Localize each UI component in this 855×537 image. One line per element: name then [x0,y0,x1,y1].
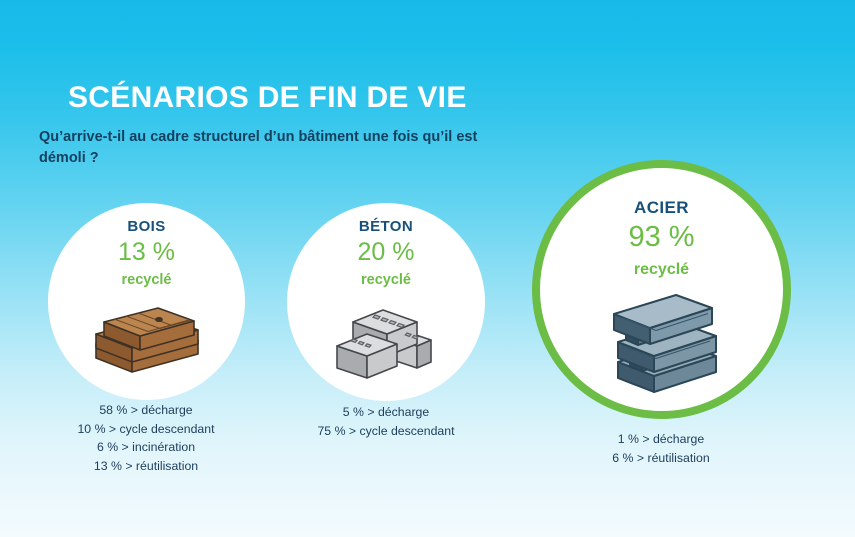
fate-item: 6 % > réutilisation [561,449,761,468]
page-subtitle: Qu’arrive-t-il au cadre structurel d’un … [39,127,509,168]
material-name-bois: BOIS [48,218,245,235]
fate-item: 13 % > réutilisation [46,457,246,476]
page-title: SCÉNARIOS DE FIN DE VIE [68,82,538,114]
recycled-label-bois: recyclé [48,272,245,288]
fate-item: 10 % > cycle descendant [46,420,246,439]
material-name-acier: ACIER [540,198,783,218]
fate-item: 75 % > cycle descendant [286,422,486,441]
fate-list-acier: 1 % > décharge 6 % > réutilisation [561,430,761,467]
material-circle-beton: BÉTON 20 % recyclé [287,203,485,401]
wood-stack-icon [86,298,208,376]
fate-list-bois: 58 % > décharge 10 % > cycle descendant … [46,401,246,476]
material-circle-bois: BOIS 13 % recyclé [48,203,245,400]
recycled-percent-beton: 20 % [287,238,485,267]
recycled-label-acier: recyclé [540,261,783,279]
fate-list-beton: 5 % > décharge 75 % > cycle descendant [286,403,486,440]
circle-content-acier: ACIER 93 % recyclé [540,168,783,411]
circle-content-beton: BÉTON 20 % recyclé [287,203,485,401]
steel-beams-icon [596,286,728,404]
circle-content-bois: BOIS 13 % recyclé [48,203,245,400]
icon-wrap-beton [287,296,485,387]
recycled-label-beton: recyclé [287,272,485,288]
fate-item: 58 % > décharge [46,401,246,420]
fate-item: 1 % > décharge [561,430,761,449]
end-of-life-scenarios-infographic: SCÉNARIOS DE FIN DE VIE Qu’arrive-t-il a… [0,0,855,537]
material-name-beton: BÉTON [287,218,485,235]
fate-item: 5 % > décharge [286,403,486,422]
concrete-blocks-icon [331,296,441,382]
material-circle-acier: ACIER 93 % recyclé [532,160,791,419]
icon-wrap-bois [48,298,245,381]
recycled-percent-acier: 93 % [540,221,783,254]
recycled-percent-bois: 13 % [48,238,245,267]
fate-item: 6 % > incinération [46,438,246,457]
icon-wrap-acier [540,286,783,409]
header: SCÉNARIOS DE FIN DE VIE Qu’arrive-t-il a… [68,82,538,123]
